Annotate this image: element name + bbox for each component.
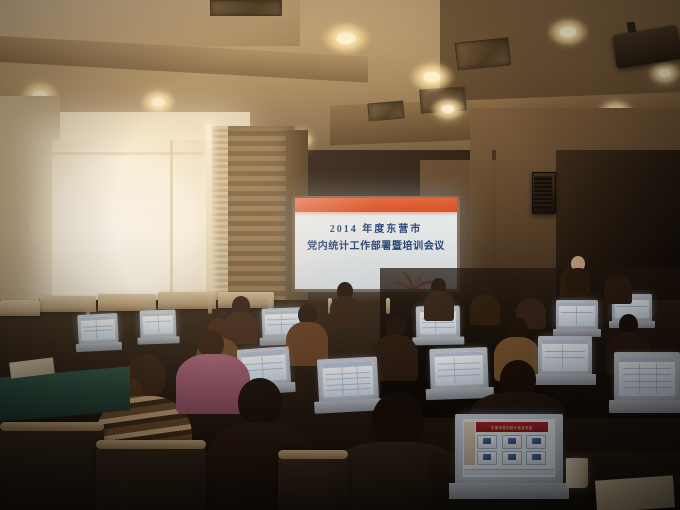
conference-room-photo: 2014 年度东营市 党内统计工作部署暨培训会议 xyxy=(0,0,680,510)
vignette xyxy=(0,0,680,510)
